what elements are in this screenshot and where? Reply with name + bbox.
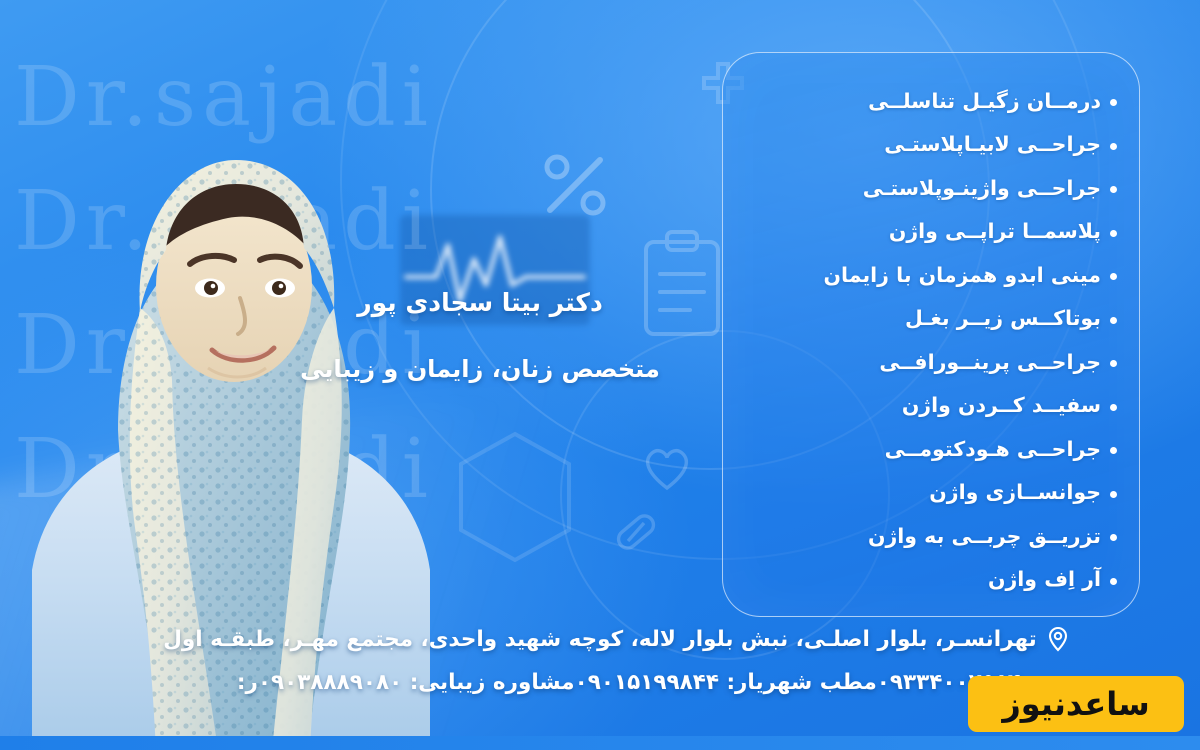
percent-icon bbox=[540, 150, 610, 220]
hexagon-icon bbox=[455, 430, 575, 564]
service-label: درمــان زگیـل تناسلــی bbox=[868, 89, 1101, 113]
list-item: جراحــی لابیـاپلاستـی bbox=[745, 123, 1117, 167]
location-pin-icon bbox=[1045, 626, 1071, 652]
bottom-strip bbox=[0, 736, 1200, 750]
list-item: جراحــی واژینـوپلاستـی bbox=[745, 166, 1117, 210]
service-label: تزریــق چربــی به واژن bbox=[868, 524, 1101, 548]
services-panel: درمــان زگیـل تناسلــی جراحــی لابیـاپلا… bbox=[722, 52, 1140, 617]
bullet-icon bbox=[1110, 491, 1117, 498]
list-item: تزریــق چربــی به واژن bbox=[745, 514, 1117, 558]
list-item: جراحــی هـودکتومــی bbox=[745, 427, 1117, 471]
badge-label: ساعدنیوز bbox=[1002, 685, 1149, 723]
list-item: بوتاکــس زیــر بغـل bbox=[745, 297, 1117, 341]
doctor-name-block: دکتر بیتا سجادی پور متخصص زنان، زایمان و… bbox=[300, 288, 660, 383]
saednews-watermark-badge: ساعدنیوز bbox=[968, 676, 1184, 732]
doctor-specialty: متخصص زنان، زایمان و زیبایی bbox=[300, 355, 660, 383]
service-label: پلاسمــا تراپــی واژن bbox=[889, 219, 1101, 243]
doctor-name: دکتر بیتا سجادی پور bbox=[300, 288, 660, 317]
list-item: آر اِف واژن bbox=[745, 558, 1117, 602]
services-list: درمــان زگیـل تناسلــی جراحــی لابیـاپلا… bbox=[745, 79, 1117, 601]
list-item: مینی ابدو همزمان با زایمان bbox=[745, 253, 1117, 297]
service-label: بوتاکــس زیــر بغـل bbox=[905, 306, 1101, 330]
service-label: جراحــی پرینــورافــی bbox=[879, 350, 1101, 374]
service-label: آر اِف واژن bbox=[988, 567, 1101, 591]
bullet-icon bbox=[1110, 273, 1117, 280]
heart-pulse-icon bbox=[640, 440, 694, 494]
list-item: درمــان زگیـل تناسلــی bbox=[745, 79, 1117, 123]
bullet-icon bbox=[1110, 404, 1117, 411]
bullet-icon bbox=[1110, 186, 1117, 193]
bullet-icon bbox=[1110, 317, 1117, 324]
list-item: سفیــد کــردن واژن bbox=[745, 384, 1117, 428]
bullet-icon bbox=[1110, 447, 1117, 454]
bullet-icon bbox=[1110, 99, 1117, 106]
bullet-icon bbox=[1110, 534, 1117, 541]
service-label: جراحــی لابیـاپلاستـی bbox=[884, 132, 1101, 156]
list-item: پلاسمــا تراپــی واژن bbox=[745, 210, 1117, 254]
bullet-icon bbox=[1110, 143, 1117, 150]
service-label: جراحــی واژینـوپلاستـی bbox=[863, 176, 1101, 200]
bullet-icon bbox=[1110, 230, 1117, 237]
clinic-address: تهرانسـر، بلوار اصلـی، نبش بلوار لاله، ک… bbox=[163, 627, 1036, 652]
service-label: سفیــد کــردن واژن bbox=[902, 393, 1101, 417]
address-row: تهرانسـر، بلوار اصلـی، نبش بلوار لاله، ک… bbox=[0, 626, 1200, 652]
pill-capsule-icon bbox=[610, 505, 662, 557]
clinic-advertisement-banner: Dr.sajadi Dr.sajadi Dr.sajadi Dr.sajadi bbox=[0, 0, 1200, 750]
bullet-icon bbox=[1110, 578, 1117, 585]
list-item: جوانســازی واژن bbox=[745, 471, 1117, 515]
list-item: جراحــی پرینــورافــی bbox=[745, 340, 1117, 384]
service-label: مینی ابدو همزمان با زایمان bbox=[824, 263, 1101, 287]
bullet-icon bbox=[1110, 360, 1117, 367]
service-label: جراحــی هـودکتومــی bbox=[885, 437, 1101, 461]
clinic-phone-numbers: ۰۹۳۳۴۰۰۷۵۸۴مطب شهریار: ۰۹۰۱۵۱۹۹۸۴۴مشاوره… bbox=[237, 670, 1021, 695]
service-label: جوانســازی واژن bbox=[929, 480, 1101, 504]
